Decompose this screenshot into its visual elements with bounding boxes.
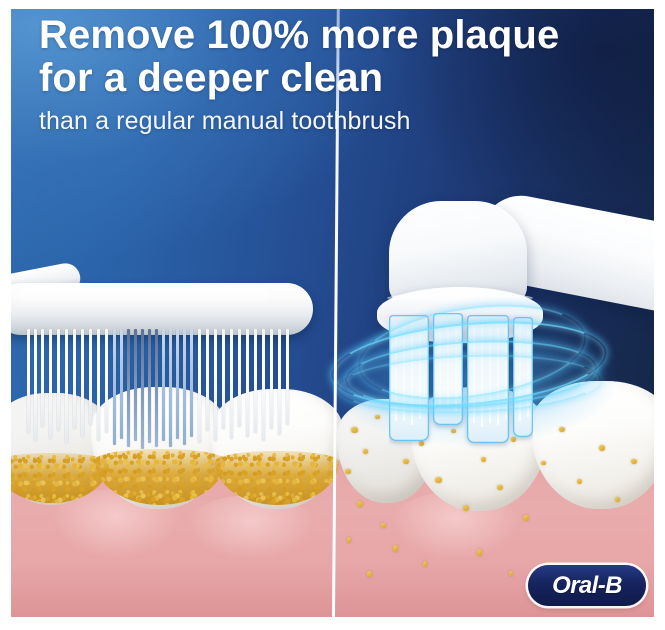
subheadline: than a regular manual toothbrush — [39, 106, 639, 136]
plaque-particle — [463, 505, 469, 511]
plaque-particle — [357, 501, 363, 507]
manual-toothbrush — [11, 267, 341, 497]
oral-b-logo-text: Oral-B — [552, 574, 622, 598]
plaque-particle — [509, 571, 513, 576]
plaque-particle — [423, 561, 427, 567]
headline-line-1: Remove 100% more plaque — [39, 15, 639, 56]
plaque-particle — [381, 523, 386, 528]
plaque-particle — [615, 497, 620, 502]
oral-b-logo: Oral-B — [528, 565, 646, 606]
manual-brush-head — [11, 283, 313, 335]
headline-block: Remove 100% more plaque for a deeper cle… — [39, 15, 639, 136]
plaque-particle — [393, 545, 398, 552]
headline-line-2: for a deeper clean — [39, 58, 639, 99]
plaque-particle — [347, 537, 351, 543]
manual-brush-bristles — [25, 329, 293, 449]
plaque-particle — [523, 515, 529, 521]
ad-canvas: Remove 100% more plaque for a deeper cle… — [11, 9, 654, 617]
electric-toothbrush — [341, 195, 654, 495]
plaque-particle — [367, 571, 372, 577]
oral-b-advertisement: Remove 100% more plaque for a deeper cle… — [0, 0, 665, 630]
plaque-particle — [477, 549, 482, 556]
